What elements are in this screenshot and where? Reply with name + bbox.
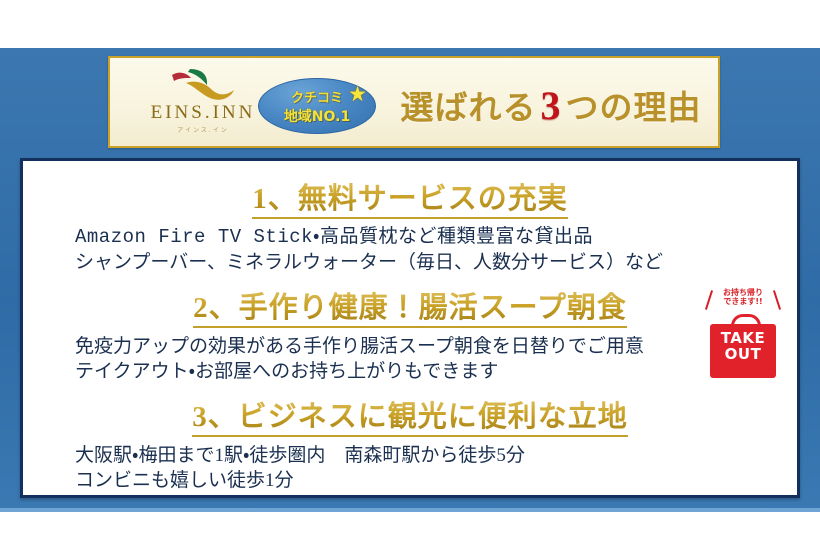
headline-suffix: つの理由 (566, 81, 702, 129)
reason-3-heading: 3、ビジネスに観光に便利な立地 (192, 393, 628, 437)
takeout-stamp: お持ち帰り できます!! TAKE OUT (700, 288, 786, 380)
reason-2-body: 免疫力アップの効果がある手作り腸活スープ朝食を日替りでご用意 テイクアウト・お部… (23, 334, 797, 384)
reason-1-line-1: Amazon Fire TV Stick・高品質枕など種類豊富な貸出品 (75, 225, 797, 250)
eins-inn-bird-icon (164, 66, 242, 102)
main-headline: 選ばれる 3 つの理由 (386, 74, 716, 136)
takeout-caption-text: お持ち帰り できます!! (711, 288, 775, 307)
star-icon: ★ (348, 84, 367, 105)
review-rank-badge: クチコミ 地域NO.1 ★ (258, 78, 376, 134)
reason-1-heading: 1、無料サービスの充実 (252, 175, 568, 219)
reasons-panel: 1、無料サービスの充実 Amazon Fire TV Stick・高品質枕など種… (20, 158, 800, 498)
takeout-bag-text: TAKE OUT (710, 331, 776, 363)
takeout-caption-line-2: できます!! (711, 297, 775, 306)
takeout-bag-line-2: OUT (710, 347, 776, 363)
reason-3-line-1: 大阪駅・梅田まで1駅・徒歩圏内 南森町駅から徒歩5分 (75, 443, 797, 468)
brand-wordmark: EINS.INN (128, 103, 278, 123)
shopping-bag-icon: TAKE OUT (710, 314, 776, 378)
takeout-caption-line-1: お持ち帰り (711, 288, 775, 297)
reason-2-line-2: テイクアウト・お部屋へのお持ち上がりもできます (75, 359, 797, 384)
reason-3-body: 大阪駅・梅田まで1駅・徒歩圏内 南森町駅から徒歩5分 コンビニも嬉しい徒歩1分 (23, 443, 797, 493)
reason-2-heading-row: 2、手作り健康！腸活スープ朝食 (23, 284, 797, 328)
advertisement-screen: EINS.INN アインス.イン クチコミ 地域NO.1 ★ 選ばれる 3 つの… (0, 0, 820, 560)
reason-2-line-1: 免疫力アップの効果がある手作り腸活スープ朝食を日替りでご用意 (75, 334, 797, 359)
takeout-top-caption: お持ち帰り できます!! (700, 288, 786, 314)
headline-prefix: 選ばれる (401, 81, 537, 129)
reason-1-line-2: シャンプーバー、ミネラルウォーター（毎日、人数分サービス）など (75, 250, 797, 275)
reason-3-heading-row: 3、ビジネスに観光に便利な立地 (23, 393, 797, 437)
reason-2-heading: 2、手作り健康！腸活スープ朝食 (193, 284, 627, 328)
reason-3-line-2: コンビニも嬉しい徒歩1分 (75, 468, 797, 493)
badge-line-area-no1: 地域NO.1 (258, 106, 376, 126)
brand-ruby-text: アインス.イン (128, 125, 278, 134)
header-banner: EINS.INN アインス.イン クチコミ 地域NO.1 ★ 選ばれる 3 つの… (108, 56, 720, 148)
reason-1-body: Amazon Fire TV Stick・高品質枕など種類豊富な貸出品 シャンプ… (23, 225, 797, 275)
headline-number: 3 (537, 82, 566, 129)
brand-logo: EINS.INN アインス.イン (128, 64, 278, 146)
reason-1-heading-row: 1、無料サービスの充実 (23, 175, 797, 219)
